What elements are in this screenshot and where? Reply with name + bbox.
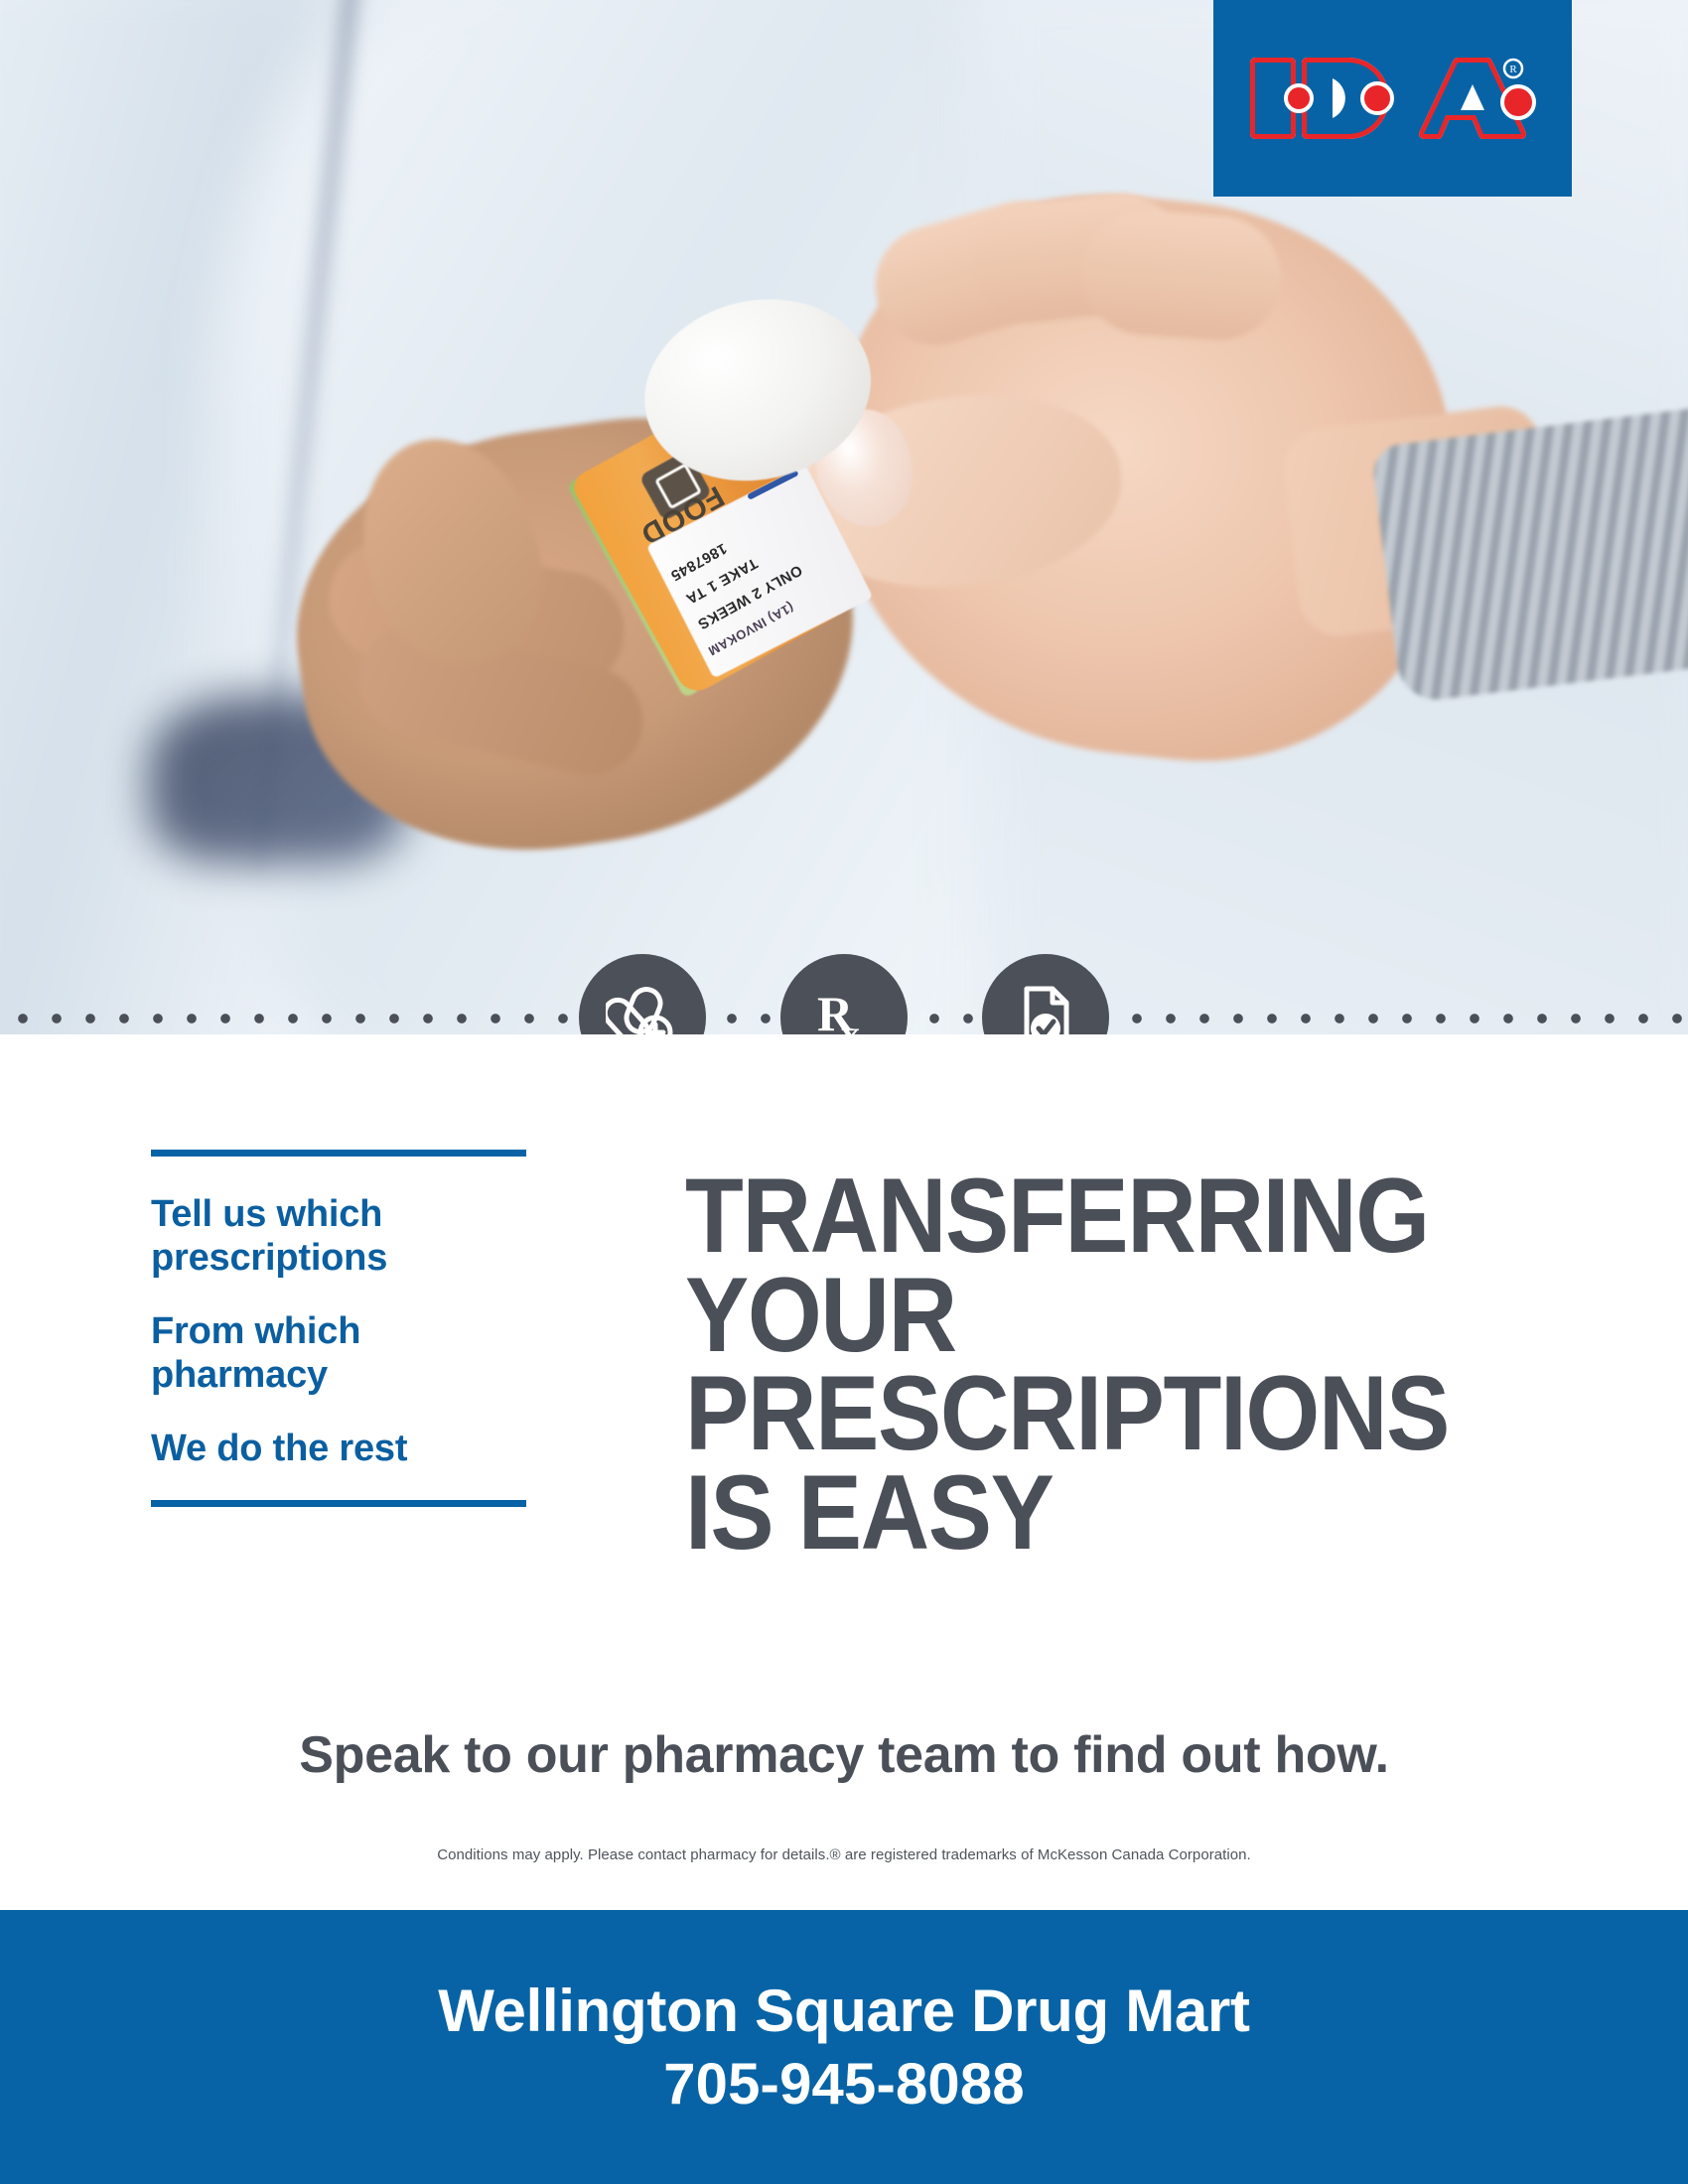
bullet-item-2: From which pharmacy <box>151 1309 526 1397</box>
store-phone[interactable]: 705-945-8088 <box>663 2051 1025 2117</box>
customer-knuckle-3 <box>1078 206 1285 344</box>
svg-text:R: R <box>1509 64 1517 75</box>
subheadline: Speak to our pharmacy team to find out h… <box>0 1725 1688 1785</box>
bullet-list: Tell us which prescriptions From which p… <box>151 1150 526 1507</box>
bullet-rule-bottom <box>151 1500 526 1507</box>
bullet-rule-top <box>151 1150 526 1157</box>
poster: FOOD TAKE WITH 1867845 TAKE 1 TA ONLY 2 … <box>0 0 1688 2184</box>
footer-bar: Wellington Square Drug Mart 705-945-8088 <box>0 1910 1688 2184</box>
ida-logo: R <box>1213 0 1572 197</box>
knit-sleeve <box>1370 408 1688 704</box>
headline-line-4: IS EASY <box>685 1463 1427 1563</box>
ida-logo-mark: R <box>1249 47 1537 150</box>
headline-line-3: PRESCRIPTIONS <box>685 1364 1427 1463</box>
fine-print-disclaimer: Conditions may apply. Please contact pha… <box>0 1846 1688 1863</box>
headline: TRANSFERRING YOUR PRESCRIPTIONS IS EASY <box>685 1166 1427 1562</box>
bullet-item-3: We do the rest <box>151 1427 526 1470</box>
headline-line-1: TRANSFERRING <box>685 1166 1427 1266</box>
bullet-item-1: Tell us which prescriptions <box>151 1192 526 1280</box>
store-name: Wellington Square Drug Mart <box>438 1977 1250 2045</box>
headline-line-2: YOUR <box>685 1266 1427 1365</box>
